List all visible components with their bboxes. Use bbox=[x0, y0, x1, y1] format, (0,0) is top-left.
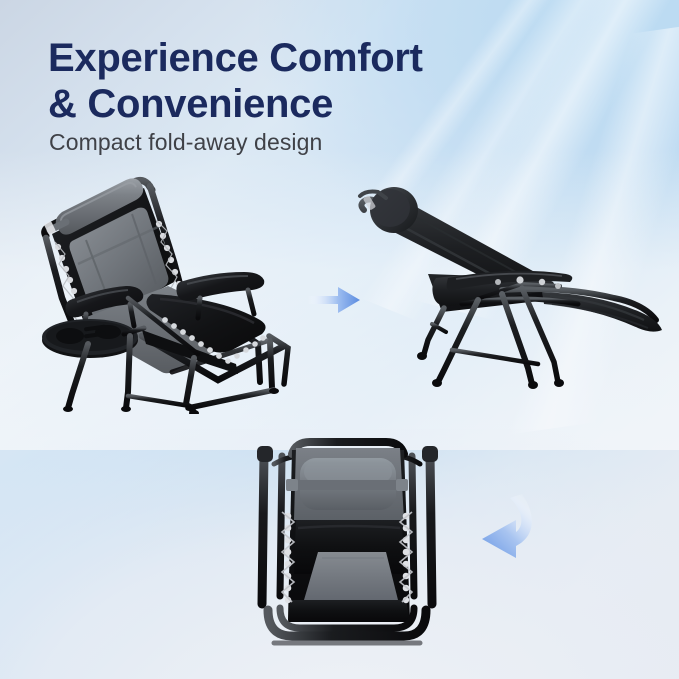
headline-line-2: & Convenience bbox=[48, 82, 608, 128]
zero-gravity-chair-folded bbox=[234, 424, 460, 662]
product-feature-poster: Experience Comfort & Convenience Compact… bbox=[0, 0, 679, 679]
zero-gravity-chair-reclined bbox=[352, 182, 664, 398]
zero-gravity-chair-upright bbox=[22, 168, 312, 414]
page-subtitle: Compact fold-away design bbox=[49, 129, 322, 156]
headline-line-1: Experience Comfort bbox=[48, 36, 423, 80]
page-title: Experience Comfort & Convenience bbox=[48, 36, 608, 127]
headrest-pillow bbox=[286, 458, 408, 510]
arrow-curve-down-left-icon bbox=[466, 492, 542, 568]
